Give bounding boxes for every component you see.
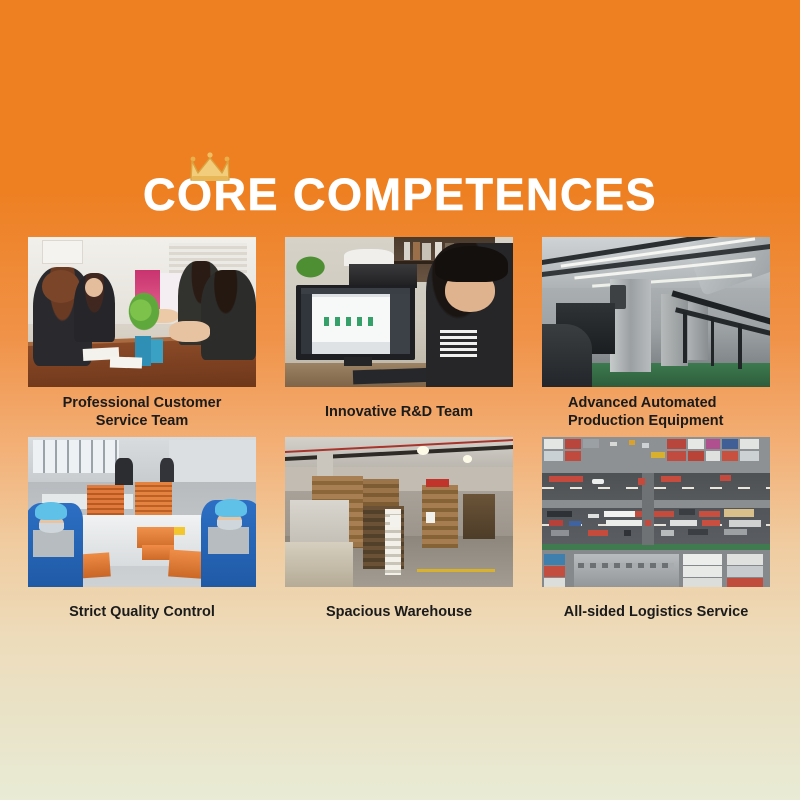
competence-card-professional-customer-service-team[interactable]: Professional Customer Service Team [28,237,256,430]
competence-card-advanced-automated-production-equipment[interactable]: Advanced Automated Production Equipment [542,237,770,430]
caption-line-1: All-sided Logistics Service [542,603,770,621]
caption-line-1: Professional Customer [28,394,256,412]
grid-row-2: Strict Quality Control Spacious Warehous… [28,437,772,630]
competence-card-innovative-rd-team[interactable]: Innovative R&D Team [285,237,513,430]
photo-innovative-rd-team [285,237,513,387]
caption-line-2: Service Team [28,412,256,430]
competence-grid: Professional Customer Service Team [28,237,772,630]
caption-line-1: Strict Quality Control [28,603,256,621]
photo-advanced-automated-production-equipment [542,237,770,387]
competence-card-strict-quality-control[interactable]: Strict Quality Control [28,437,256,630]
caption-innovative-rd-team: Innovative R&D Team [285,394,513,430]
photo-all-sided-logistics-service [542,437,770,587]
grid-row-1: Professional Customer Service Team [28,237,772,430]
caption-spacious-warehouse: Spacious Warehouse [285,594,513,630]
caption-strict-quality-control: Strict Quality Control [28,594,256,630]
caption-line-1: Innovative R&D Team [285,403,513,421]
competence-card-all-sided-logistics-service[interactable]: All-sided Logistics Service [542,437,770,630]
caption-all-sided-logistics-service: All-sided Logistics Service [542,594,770,630]
crown-icon [188,152,232,184]
page-header: CORE COMPETENCES [0,150,800,217]
photo-spacious-warehouse [285,437,513,587]
competence-card-spacious-warehouse[interactable]: Spacious Warehouse [285,437,513,630]
caption-professional-customer-service-team: Professional Customer Service Team [28,394,256,430]
caption-line-1: Advanced Automated [568,394,770,412]
caption-line-1: Spacious Warehouse [285,603,513,621]
photo-strict-quality-control [28,437,256,587]
caption-advanced-automated-production-equipment: Advanced Automated Production Equipment [542,394,770,430]
photo-professional-customer-service-team [28,237,256,387]
caption-line-2: Production Equipment [568,412,770,430]
page-title: CORE COMPETENCES [0,150,800,217]
